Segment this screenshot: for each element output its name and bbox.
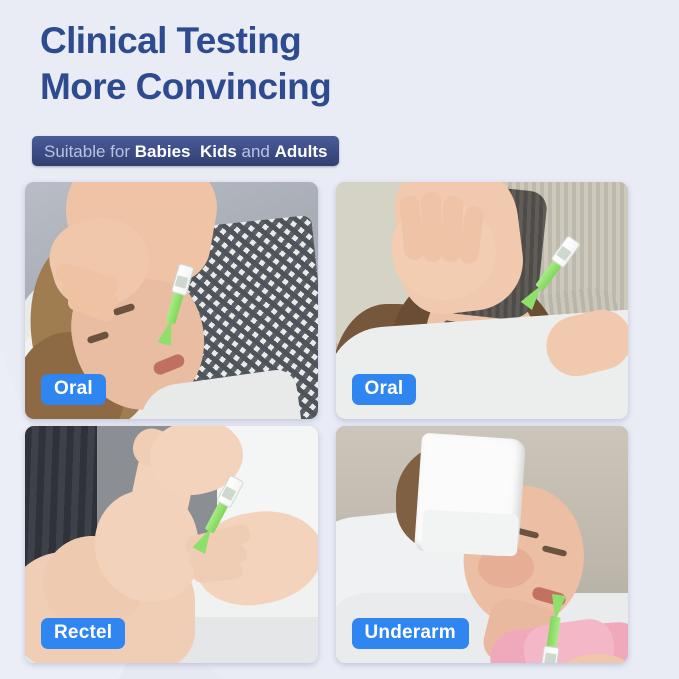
badge-rectal-baby: Rectel bbox=[41, 618, 125, 649]
page-title-line-2: More Convincing bbox=[40, 64, 640, 110]
banner-word-adults: Adults bbox=[275, 143, 328, 160]
banner-connector: and bbox=[237, 143, 275, 160]
promo-banner-page: Clinical Testing More Convincing Suitabl… bbox=[0, 0, 679, 679]
usage-card-rectal-baby: Rectel bbox=[25, 426, 318, 663]
banner-prefix-text: Suitable for bbox=[44, 143, 135, 160]
usage-photo-grid: Oral bbox=[25, 182, 628, 663]
badge-oral-child: Oral bbox=[41, 374, 106, 405]
badge-oral-teen: Oral bbox=[352, 374, 417, 405]
usage-card-underarm-child: Underarm bbox=[336, 426, 629, 663]
usage-card-oral-teen: Oral bbox=[336, 182, 629, 419]
header: Clinical Testing More Convincing bbox=[40, 18, 640, 110]
usage-card-oral-child: Oral bbox=[25, 182, 318, 419]
page-title-line-1: Clinical Testing bbox=[40, 18, 640, 64]
badge-underarm-child: Underarm bbox=[352, 618, 469, 649]
banner-word-kids: Kids bbox=[200, 143, 237, 160]
suitability-banner: Suitable for Babies Kids and Adults bbox=[32, 136, 339, 166]
banner-gap bbox=[190, 143, 199, 160]
banner-word-babies: Babies bbox=[135, 143, 191, 160]
